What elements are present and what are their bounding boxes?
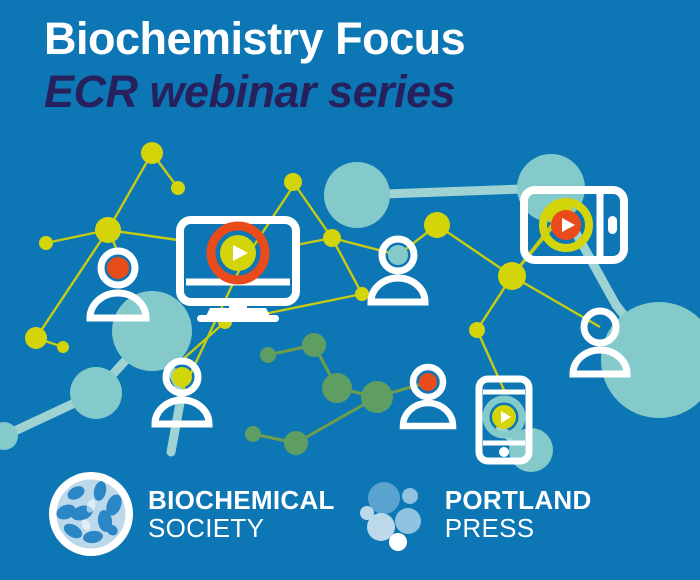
biochemical-society-cell-emblem — [48, 471, 134, 557]
portland-press-circles-emblem — [357, 476, 433, 552]
society-name-top: BIOCHEMICAL — [148, 487, 335, 513]
logo-bar: BIOCHEMICAL SOCIETY PORTLAND PRESS — [48, 466, 652, 562]
society-name-bottom: SOCIETY — [148, 515, 335, 541]
portland-press-wordmark: PORTLAND PRESS — [445, 487, 592, 541]
portland-name-bottom: PRESS — [445, 515, 592, 541]
poster-title-line1: Biochemistry Focus — [44, 16, 465, 61]
heading-block: Biochemistry Focus ECR webinar series — [44, 16, 465, 114]
portland-name-top: PORTLAND — [445, 487, 592, 513]
poster-title-line2: ECR webinar series — [44, 69, 465, 114]
portland-press-logo: PORTLAND PRESS — [357, 476, 592, 552]
webinar-series-poster: Biochemistry Focus ECR webinar series — [0, 0, 700, 580]
biochemical-society-logo: BIOCHEMICAL SOCIETY — [48, 471, 335, 557]
biochemical-society-wordmark: BIOCHEMICAL SOCIETY — [148, 487, 335, 541]
